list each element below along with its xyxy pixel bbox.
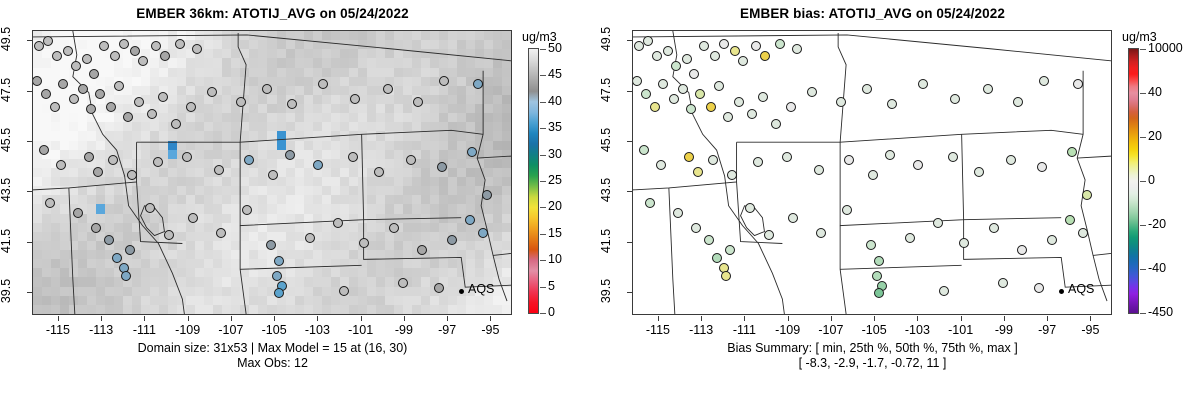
- y-tick: [27, 191, 32, 192]
- observation-marker[interactable]: [123, 112, 133, 122]
- observation-marker[interactable]: [244, 155, 254, 165]
- caption-domain-size: Domain size: 31x53 | Max Model = 15 at (…: [0, 341, 545, 356]
- y-tick-label: 43.5: [599, 170, 613, 210]
- x-tick: [58, 316, 59, 321]
- observation-marker[interactable]: [41, 89, 51, 99]
- y-tick-label: 39.5: [599, 271, 613, 311]
- y-tick: [627, 292, 632, 293]
- observation-marker[interactable]: [95, 89, 105, 99]
- x-tick: [231, 316, 232, 321]
- observation-marker[interactable]: [216, 228, 226, 238]
- x-tick-label: -109: [168, 323, 208, 337]
- aqs-legend-label-model: AQS: [468, 282, 494, 296]
- colorbar-tick-label: 35: [548, 120, 562, 134]
- observation-marker[interactable]: [207, 87, 217, 97]
- observation-marker[interactable]: [691, 223, 701, 233]
- observation-marker[interactable]: [406, 155, 416, 165]
- y-tick: [27, 91, 32, 92]
- observation-marker[interactable]: [641, 89, 651, 99]
- colorbar-tick-label: 40: [1148, 85, 1162, 99]
- observation-marker[interactable]: [318, 79, 328, 89]
- x-tick-label: -109: [768, 323, 808, 337]
- y-tick-label: 45.5: [0, 120, 13, 160]
- observation-marker[interactable]: [333, 218, 343, 228]
- boundary-line: [69, 188, 75, 314]
- y-tick-label: 41.5: [0, 221, 13, 261]
- observation-marker[interactable]: [82, 54, 92, 64]
- boundary-line: [477, 156, 511, 158]
- x-tick-label: -97: [1027, 323, 1067, 337]
- observation-marker[interactable]: [788, 213, 798, 223]
- x-tick: [1047, 316, 1048, 321]
- observation-marker[interactable]: [91, 223, 101, 233]
- observation-marker[interactable]: [695, 89, 705, 99]
- observation-marker[interactable]: [175, 39, 185, 49]
- boundary-line: [737, 134, 962, 142]
- observation-marker[interactable]: [918, 79, 928, 89]
- observation-marker[interactable]: [89, 69, 99, 79]
- boundary-line: [1093, 253, 1111, 255]
- boundary-line: [240, 134, 363, 225]
- boundary-line: [238, 33, 246, 142]
- y-tick: [627, 40, 632, 41]
- observation-marker[interactable]: [171, 119, 181, 129]
- colorbar-tick: [540, 207, 546, 208]
- observation-marker[interactable]: [482, 190, 492, 200]
- colorbar-tick: [540, 313, 546, 314]
- observation-marker[interactable]: [1082, 190, 1092, 200]
- x-tick-label: -107: [811, 323, 851, 337]
- observation-marker[interactable]: [383, 84, 393, 94]
- colorbar-tick: [1140, 49, 1146, 50]
- x-tick: [1004, 316, 1005, 321]
- colorbar-tick: [540, 49, 546, 50]
- x-tick-label: -95: [1070, 323, 1110, 337]
- observation-marker[interactable]: [905, 233, 915, 243]
- observation-marker[interactable]: [413, 97, 423, 107]
- colorbar-tick-label: 15: [548, 226, 562, 240]
- observation-marker[interactable]: [807, 87, 817, 97]
- observation-marker[interactable]: [186, 102, 196, 112]
- observation-marker[interactable]: [134, 97, 144, 107]
- x-tick-label: -99: [384, 323, 424, 337]
- boundary-line: [962, 130, 1083, 134]
- boundary-line: [964, 218, 1062, 220]
- observation-marker[interactable]: [874, 256, 884, 266]
- observation-marker[interactable]: [782, 152, 792, 162]
- x-tick-label: -113: [681, 323, 721, 337]
- observation-marker[interactable]: [814, 165, 824, 175]
- observation-marker[interactable]: [1006, 155, 1016, 165]
- observation-marker[interactable]: [862, 84, 872, 94]
- observation-marker[interactable]: [673, 208, 683, 218]
- colorbar-tick-label: 20: [1148, 129, 1162, 143]
- observation-marker[interactable]: [268, 170, 278, 180]
- observation-marker[interactable]: [182, 152, 192, 162]
- observation-marker[interactable]: [758, 92, 768, 102]
- map-plot-bias[interactable]: AQS: [632, 30, 1112, 315]
- colorbar-tick: [1140, 181, 1146, 182]
- y-tick-label: 41.5: [599, 221, 613, 261]
- observation-marker[interactable]: [188, 213, 198, 223]
- y-tick-label: 45.5: [599, 120, 613, 160]
- observation-marker[interactable]: [274, 256, 284, 266]
- colorbar-tick-label: 5: [548, 279, 555, 293]
- observation-marker[interactable]: [708, 155, 718, 165]
- x-tick-label: -99: [984, 323, 1024, 337]
- observation-marker[interactable]: [437, 162, 447, 172]
- colorbar-tick-label: 20: [548, 199, 562, 213]
- observation-marker[interactable]: [652, 51, 662, 61]
- observation-marker[interactable]: [868, 170, 878, 180]
- y-tick-label: 47.5: [0, 70, 13, 110]
- colorbar-tick: [1140, 269, 1146, 270]
- x-tick-label: -115: [638, 323, 678, 337]
- observation-marker[interactable]: [262, 84, 272, 94]
- boundary-line: [669, 188, 675, 314]
- colorbar-tick-label: 0: [1148, 173, 1155, 187]
- y-tick: [627, 191, 632, 192]
- observation-marker[interactable]: [872, 271, 882, 281]
- observation-marker[interactable]: [706, 102, 716, 112]
- colorbar-tick-label: 25: [548, 173, 562, 187]
- observation-marker[interactable]: [689, 69, 699, 79]
- colorbar-tick-label: -40: [1148, 261, 1166, 275]
- x-tick: [744, 316, 745, 321]
- colorbar-tick-label: 50: [548, 41, 562, 55]
- colorbar-tick-label: 10: [548, 252, 562, 266]
- observation-marker[interactable]: [836, 97, 846, 107]
- observation-marker[interactable]: [145, 203, 155, 213]
- observation-marker[interactable]: [158, 92, 168, 102]
- observation-marker[interactable]: [645, 198, 655, 208]
- boundary-line: [1077, 156, 1111, 158]
- observation-marker[interactable]: [465, 215, 475, 225]
- x-tick-label: -115: [38, 323, 78, 337]
- observation-marker[interactable]: [478, 228, 488, 238]
- colorbar-tick: [1140, 93, 1146, 94]
- caption-bias-summary-values: [ -8.3, -2.9, -1.7, -0.72, 11 ]: [600, 356, 1145, 371]
- boundary-line: [493, 253, 511, 255]
- y-tick: [27, 242, 32, 243]
- caption-max-obs: Max Obs: 12: [0, 356, 545, 371]
- x-tick: [144, 316, 145, 321]
- x-tick: [701, 316, 702, 321]
- colorbar-tick: [540, 155, 546, 156]
- observation-marker[interactable]: [63, 46, 73, 56]
- observation-marker[interactable]: [1013, 97, 1023, 107]
- x-tick-label: -101: [941, 323, 981, 337]
- boundary-line: [1077, 71, 1107, 301]
- y-tick-label: 39.5: [0, 271, 13, 311]
- observation-marker[interactable]: [50, 102, 60, 112]
- colorbar-tick: [540, 234, 546, 235]
- colorbar-tick-label: 30: [548, 147, 562, 161]
- boundary-line: [737, 182, 783, 244]
- observation-marker[interactable]: [56, 160, 66, 170]
- boundary-line: [137, 134, 362, 142]
- observation-marker[interactable]: [121, 271, 131, 281]
- x-tick: [447, 316, 448, 321]
- y-tick: [627, 141, 632, 142]
- x-tick: [917, 316, 918, 321]
- observation-marker[interactable]: [734, 97, 744, 107]
- caption-bias-summary-header: Bias Summary: [ min, 25th %, 50th %, 75t…: [600, 341, 1145, 356]
- x-tick: [404, 316, 405, 321]
- y-tick: [627, 91, 632, 92]
- colorbar-tick: [540, 260, 546, 261]
- aqs-legend-dot-bias: [1059, 289, 1064, 294]
- panel-title-model: EMBER 36km: ATOTIJ_AVG on 05/24/2022: [0, 6, 545, 21]
- observation-marker[interactable]: [704, 235, 714, 245]
- observation-marker[interactable]: [1065, 215, 1075, 225]
- x-tick: [361, 316, 362, 321]
- boundary-line: [240, 226, 246, 314]
- colorbar-tick: [540, 102, 546, 103]
- observation-marker[interactable]: [52, 51, 62, 61]
- colorbar-tick-label: -450: [1148, 305, 1173, 319]
- y-tick: [27, 292, 32, 293]
- boundary-line: [364, 218, 462, 220]
- x-tick-label: -107: [211, 323, 251, 337]
- boundary-line: [840, 265, 961, 269]
- observation-marker[interactable]: [719, 39, 729, 49]
- boundary-line: [137, 182, 183, 244]
- observation-marker[interactable]: [192, 44, 202, 54]
- observation-marker[interactable]: [39, 145, 49, 155]
- map-plot-model[interactable]: AQS: [32, 30, 512, 315]
- x-tick-label: -103: [897, 323, 937, 337]
- observation-marker[interactable]: [998, 278, 1008, 288]
- observation-marker[interactable]: [78, 84, 88, 94]
- x-tick-label: -113: [81, 323, 121, 337]
- boundary-line: [964, 220, 1111, 288]
- observation-marker[interactable]: [104, 235, 114, 245]
- observation-marker[interactable]: [236, 97, 246, 107]
- observation-marker[interactable]: [730, 46, 740, 56]
- observation-marker[interactable]: [771, 119, 781, 129]
- x-tick-label: -111: [124, 323, 164, 337]
- figure-root: EMBER 36km: ATOTIJ_AVG on 05/24/2022 AQS…: [0, 0, 1200, 409]
- observation-marker[interactable]: [214, 165, 224, 175]
- observation-marker[interactable]: [639, 145, 649, 155]
- observation-marker[interactable]: [1078, 228, 1088, 238]
- y-tick: [27, 141, 32, 142]
- x-tick: [317, 316, 318, 321]
- observation-marker[interactable]: [775, 39, 785, 49]
- observation-marker[interactable]: [933, 218, 943, 228]
- observation-marker[interactable]: [663, 46, 673, 56]
- colorbar-tick: [540, 128, 546, 129]
- x-tick: [658, 316, 659, 321]
- x-tick: [188, 316, 189, 321]
- colorbar-bias[interactable]: [1128, 48, 1139, 314]
- colorbar-tick-label: -20: [1148, 217, 1166, 231]
- boundary-line: [840, 226, 846, 314]
- boundary-line: [240, 265, 361, 269]
- y-tick-label: 49.5: [599, 19, 613, 59]
- aqs-legend-dot-model: [459, 289, 464, 294]
- observation-marker[interactable]: [130, 46, 140, 56]
- observation-marker[interactable]: [45, 198, 55, 208]
- aqs-legend-label-bias: AQS: [1068, 282, 1094, 296]
- x-tick: [831, 316, 832, 321]
- colorbar-tick: [540, 287, 546, 288]
- colorbar-tick: [540, 181, 546, 182]
- x-tick-label: -103: [297, 323, 337, 337]
- observation-marker[interactable]: [1067, 147, 1077, 157]
- observation-marker[interactable]: [73, 208, 83, 218]
- x-tick: [961, 316, 962, 321]
- observation-marker[interactable]: [272, 271, 282, 281]
- observation-marker[interactable]: [682, 54, 692, 64]
- x-tick: [788, 316, 789, 321]
- observation-marker[interactable]: [885, 150, 895, 160]
- boundary-line: [364, 220, 511, 288]
- x-tick: [1090, 316, 1091, 321]
- observation-marker[interactable]: [359, 238, 369, 248]
- y-tick: [627, 242, 632, 243]
- observation-marker[interactable]: [816, 228, 826, 238]
- observation-marker[interactable]: [989, 223, 999, 233]
- colorbar-model[interactable]: [528, 48, 539, 314]
- colorbar-tick-label: 10000: [1148, 41, 1183, 55]
- colorbar-tick-label: 45: [548, 67, 562, 81]
- observation-marker[interactable]: [305, 233, 315, 243]
- observation-marker[interactable]: [721, 271, 731, 281]
- x-tick-label: -105: [854, 323, 894, 337]
- x-tick: [490, 316, 491, 321]
- panel-title-bias: EMBER bias: ATOTIJ_AVG on 05/24/2022: [600, 6, 1145, 21]
- colorbar-tick: [540, 75, 546, 76]
- observation-marker[interactable]: [792, 44, 802, 54]
- boundary-line: [477, 71, 507, 301]
- observation-marker[interactable]: [1037, 162, 1047, 172]
- colorbar-tick-label: 40: [548, 94, 562, 108]
- observation-marker[interactable]: [656, 160, 666, 170]
- x-tick: [874, 316, 875, 321]
- boundary-line: [362, 130, 483, 134]
- observation-marker[interactable]: [467, 147, 477, 157]
- observation-marker[interactable]: [959, 238, 969, 248]
- y-tick-label: 47.5: [599, 70, 613, 110]
- y-tick: [27, 40, 32, 41]
- y-tick-label: 43.5: [0, 170, 13, 210]
- x-tick-label: -95: [470, 323, 510, 337]
- observation-marker[interactable]: [119, 39, 129, 49]
- x-tick-label: -105: [254, 323, 294, 337]
- observation-marker[interactable]: [650, 102, 660, 112]
- boundary-line: [838, 33, 846, 142]
- observation-marker[interactable]: [389, 223, 399, 233]
- x-tick: [274, 316, 275, 321]
- observation-marker[interactable]: [844, 155, 854, 165]
- observation-marker[interactable]: [108, 155, 118, 165]
- observation-marker[interactable]: [285, 150, 295, 160]
- colorbar-tick-label: 0: [548, 305, 555, 319]
- colorbar-tick: [1140, 137, 1146, 138]
- y-tick-label: 49.5: [0, 19, 13, 59]
- colorbar-tick: [1140, 225, 1146, 226]
- x-tick-label: -97: [427, 323, 467, 337]
- observation-marker[interactable]: [745, 203, 755, 213]
- panel-model: EMBER 36km: ATOTIJ_AVG on 05/24/2022 AQS…: [0, 0, 600, 409]
- x-tick-label: -101: [341, 323, 381, 337]
- x-tick-label: -111: [724, 323, 764, 337]
- observation-marker[interactable]: [106, 102, 116, 112]
- x-tick: [101, 316, 102, 321]
- colorbar-tick: [1140, 313, 1146, 314]
- observation-marker[interactable]: [983, 84, 993, 94]
- observation-marker[interactable]: [678, 84, 688, 94]
- boundary-line: [840, 134, 963, 225]
- observation-marker[interactable]: [723, 112, 733, 122]
- observation-marker[interactable]: [786, 102, 796, 112]
- panel-bias: EMBER bias: ATOTIJ_AVG on 05/24/2022 AQS…: [600, 0, 1200, 409]
- observation-marker[interactable]: [398, 278, 408, 288]
